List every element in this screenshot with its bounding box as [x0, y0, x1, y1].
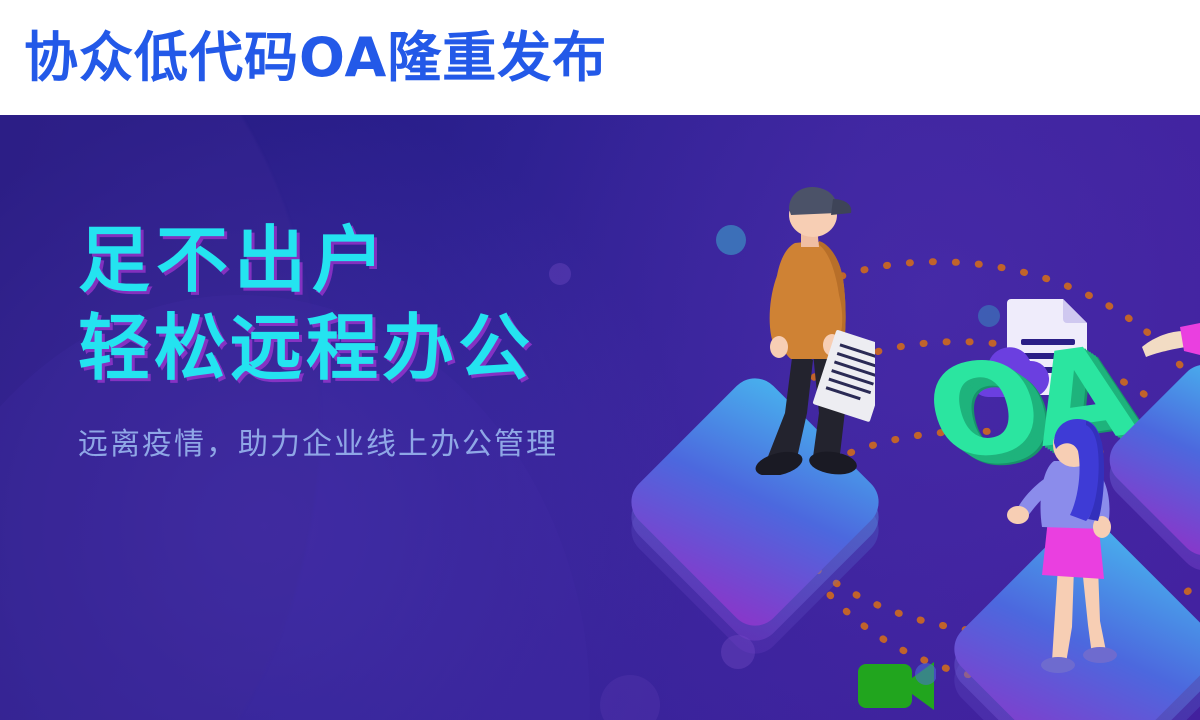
walking-man-figure	[735, 175, 875, 475]
page-title: 协众低代码OA隆重发布	[24, 31, 607, 85]
header-bar: 协众低代码OA隆重发布	[0, 0, 1200, 115]
hero-banner: 足不出户 轻松远程办公 远离疫情，助力企业线上办公管理	[0, 115, 1200, 720]
video-camera-icon	[858, 660, 936, 712]
page-root: 协众低代码OA隆重发布 足不出户 轻松远程办公 远离疫情，助力企业线上办公管理	[0, 0, 1200, 720]
partner-arm-figure	[1140, 293, 1200, 363]
